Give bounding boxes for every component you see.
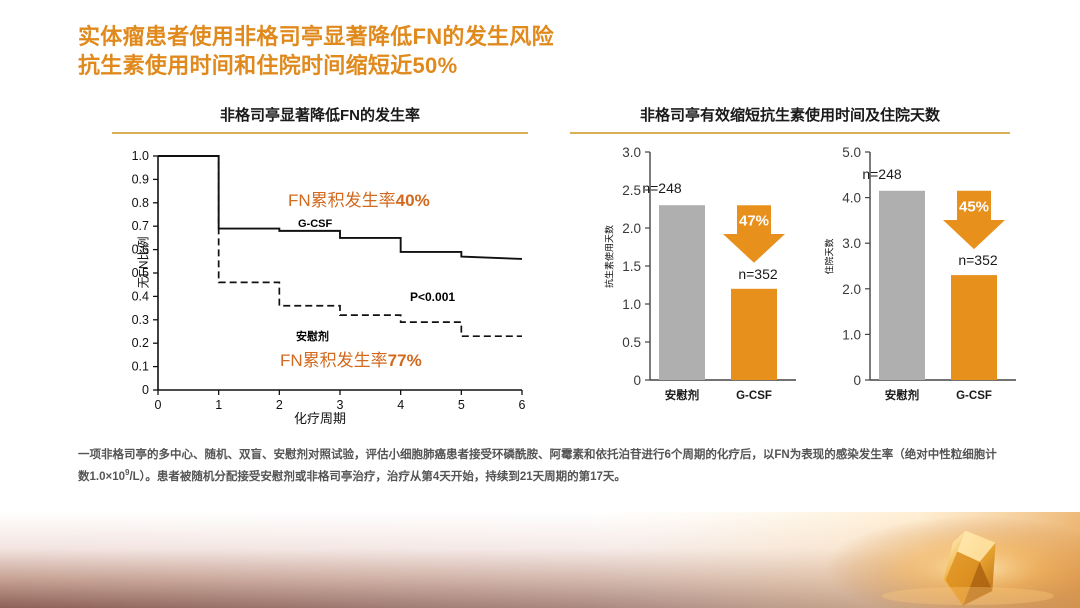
svg-text:n=248: n=248 xyxy=(862,166,902,182)
svg-text:0: 0 xyxy=(142,383,149,397)
placebo-curve-label: 安慰剂 xyxy=(296,328,329,344)
right-panel-subtitle-text: 非格司亭有效缩短抗生素使用时间及住院天数 xyxy=(570,104,1010,125)
svg-text:2.5: 2.5 xyxy=(622,183,641,198)
decoration-graphic xyxy=(0,512,1080,608)
svg-text:2.0: 2.0 xyxy=(842,282,861,297)
title-line-2: 抗生素使用时间和住院时间缩短近50% xyxy=(78,51,554,80)
svg-text:1.5: 1.5 xyxy=(622,259,641,274)
gcsf-rate-prefix: FN累积发生率 xyxy=(288,191,396,210)
gcsf-rate-annotation: FN累积发生率40% xyxy=(288,186,430,211)
slide-title: 实体瘤患者使用非格司亭显著降低FN的发生风险 抗生素使用时间和住院时间缩短近50… xyxy=(78,22,554,80)
left-panel-subtitle: 非格司亭显著降低FN的发生率 xyxy=(112,104,528,134)
svg-text:0: 0 xyxy=(633,373,641,388)
svg-text:0.7: 0.7 xyxy=(132,219,149,233)
bar1-plot-area: 00.51.01.52.02.53.0 47% 安慰剂G-CSF n=248n=… xyxy=(598,142,808,427)
bar1-y-axis-label: 抗生素使用天数 xyxy=(603,202,616,312)
svg-text:1.0: 1.0 xyxy=(842,327,861,342)
hospital-days-chart: 住院天数 01.02.03.04.05.0 45% 安慰剂G-CSF n=248… xyxy=(818,142,1028,427)
left-panel-subtitle-text: 非格司亭显著降低FN的发生率 xyxy=(112,104,528,125)
km-curve-placebo xyxy=(158,156,522,336)
svg-text:0.6: 0.6 xyxy=(132,243,149,257)
svg-text:0.5: 0.5 xyxy=(622,335,641,350)
svg-text:2.0: 2.0 xyxy=(622,221,641,236)
bar1-reduction-arrow: 47% xyxy=(723,205,785,263)
bar2-category-labels: 安慰剂G-CSF xyxy=(885,388,992,402)
svg-text:n=352: n=352 xyxy=(958,252,998,268)
svg-text:0: 0 xyxy=(853,373,861,388)
footnote: 一项非格司亭的多中心、随机、双盲、安慰剂对照试验，评估小细胞肺癌患者接受环磷酰胺… xyxy=(78,446,1008,486)
svg-text:0.9: 0.9 xyxy=(132,172,149,186)
svg-text:G-CSF: G-CSF xyxy=(956,390,992,402)
bottom-decoration xyxy=(0,512,1080,608)
svg-text:4.0: 4.0 xyxy=(842,191,861,206)
svg-text:G-CSF: G-CSF xyxy=(736,390,772,402)
svg-text:n=248: n=248 xyxy=(642,180,682,196)
bar2-y-axis-label: 住院天数 xyxy=(823,202,836,312)
title-line-1: 实体瘤患者使用非格司亭显著降低FN的发生风险 xyxy=(78,22,554,51)
svg-text:3.0: 3.0 xyxy=(842,236,861,251)
svg-text:0.5: 0.5 xyxy=(132,266,149,280)
placebo-rate-annotation: FN累积发生率77% xyxy=(280,346,422,371)
svg-text:1.0: 1.0 xyxy=(622,297,641,312)
svg-text:n=352: n=352 xyxy=(738,266,778,282)
svg-text:0.8: 0.8 xyxy=(132,196,149,210)
footnote-line-2b: /L）。患者被随机分配接受安慰剂或非格司亭治疗，治疗从第4天开始，持续到21天周… xyxy=(129,471,625,483)
svg-text:1.0: 1.0 xyxy=(132,149,149,163)
km-x-axis-label: 化疗周期 xyxy=(110,408,530,427)
gcsf-curve-label: G-CSF xyxy=(298,218,332,230)
km-y-tick-group: 00.10.20.30.40.50.60.70.80.91.0 xyxy=(132,149,158,397)
km-chart: 无FN比例 00.10.20.30.40.50.60.70.80.91.0 01… xyxy=(110,142,530,422)
bar1-category-labels: 安慰剂G-CSF xyxy=(665,388,772,402)
svg-text:47%: 47% xyxy=(739,213,769,230)
placebo-rate-prefix: FN累积发生率 xyxy=(280,351,388,370)
placebo-rate-value: 77% xyxy=(388,351,422,370)
bar2-reduction-arrow: 45% xyxy=(943,191,1005,249)
svg-text:0.2: 0.2 xyxy=(132,336,149,350)
bar2-plot-area: 01.02.03.04.05.0 45% 安慰剂G-CSF n=248n=352 xyxy=(818,142,1028,427)
km-plot-area: 00.10.20.30.40.50.60.70.80.91.0 0123456 xyxy=(110,142,530,422)
svg-text:安慰剂: 安慰剂 xyxy=(885,388,920,402)
svg-text:0.3: 0.3 xyxy=(132,313,149,327)
svg-text:45%: 45% xyxy=(959,198,989,215)
right-panel-divider xyxy=(570,132,1010,134)
gcsf-rate-value: 40% xyxy=(396,191,430,210)
antibiotic-days-chart: 抗生素使用天数 00.51.01.52.02.53.0 47% 安慰剂G-CSF… xyxy=(598,142,808,427)
svg-text:0.1: 0.1 xyxy=(132,360,149,374)
svg-text:安慰剂: 安慰剂 xyxy=(665,388,700,402)
svg-text:3.0: 3.0 xyxy=(622,145,641,160)
footnote-line-1: 一项非格司亭的多中心、随机、双盲、安慰剂对照试验，评估小细胞肺癌患者接受环磷酰胺… xyxy=(78,449,847,461)
right-panel-subtitle: 非格司亭有效缩短抗生素使用时间及住院天数 xyxy=(570,104,1010,134)
left-panel-divider xyxy=(112,132,528,134)
km-pvalue-label: P<0.001 xyxy=(410,290,455,304)
svg-text:0.4: 0.4 xyxy=(132,289,149,303)
svg-text:5.0: 5.0 xyxy=(842,145,861,160)
